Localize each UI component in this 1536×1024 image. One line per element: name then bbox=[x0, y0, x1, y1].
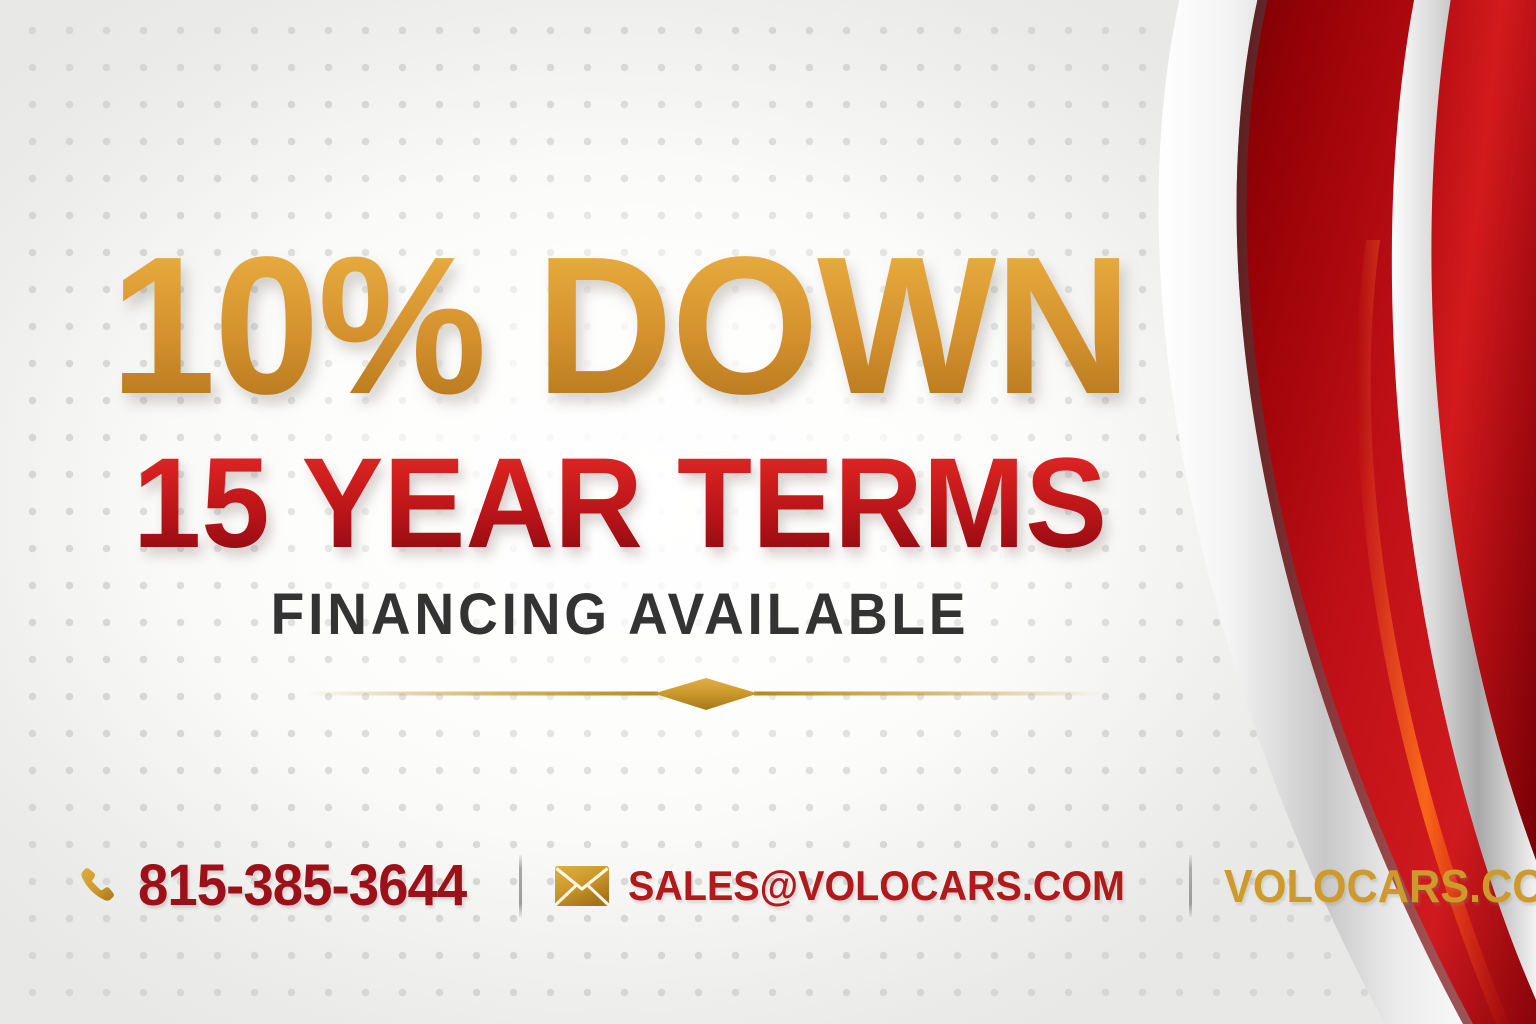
contact-divider-1 bbox=[519, 855, 522, 917]
headline-secondary: 15 YEAR TERMS bbox=[25, 440, 1215, 568]
contact-divider-2 bbox=[1189, 855, 1192, 917]
gold-ornament-divider bbox=[306, 672, 1106, 716]
contact-bar: 815-385-3644 SALES@VOLOCA bbox=[78, 850, 1536, 922]
promotional-banner: 10% DOWN 15 YEAR TERMS FINANCING AVAILAB… bbox=[0, 0, 1536, 1024]
banner-content: 10% DOWN 15 YEAR TERMS FINANCING AVAILAB… bbox=[0, 0, 1240, 1024]
headline-primary: 10% DOWN bbox=[19, 228, 1222, 424]
website-url: VOLOCARS.COM bbox=[1224, 863, 1536, 909]
phone-number: 815-385-3644 bbox=[138, 857, 466, 915]
subheadline: FINANCING AVAILABLE bbox=[31, 586, 1209, 644]
contact-website[interactable]: VOLOCARS.COM bbox=[1224, 850, 1536, 922]
contact-phone[interactable]: 815-385-3644 bbox=[78, 850, 487, 922]
envelope-icon bbox=[554, 865, 610, 907]
contact-email[interactable]: SALES@VOLOCARS.COM bbox=[554, 850, 1157, 922]
phone-icon bbox=[78, 864, 122, 908]
email-address: SALES@VOLOCARS.COM bbox=[628, 865, 1125, 907]
